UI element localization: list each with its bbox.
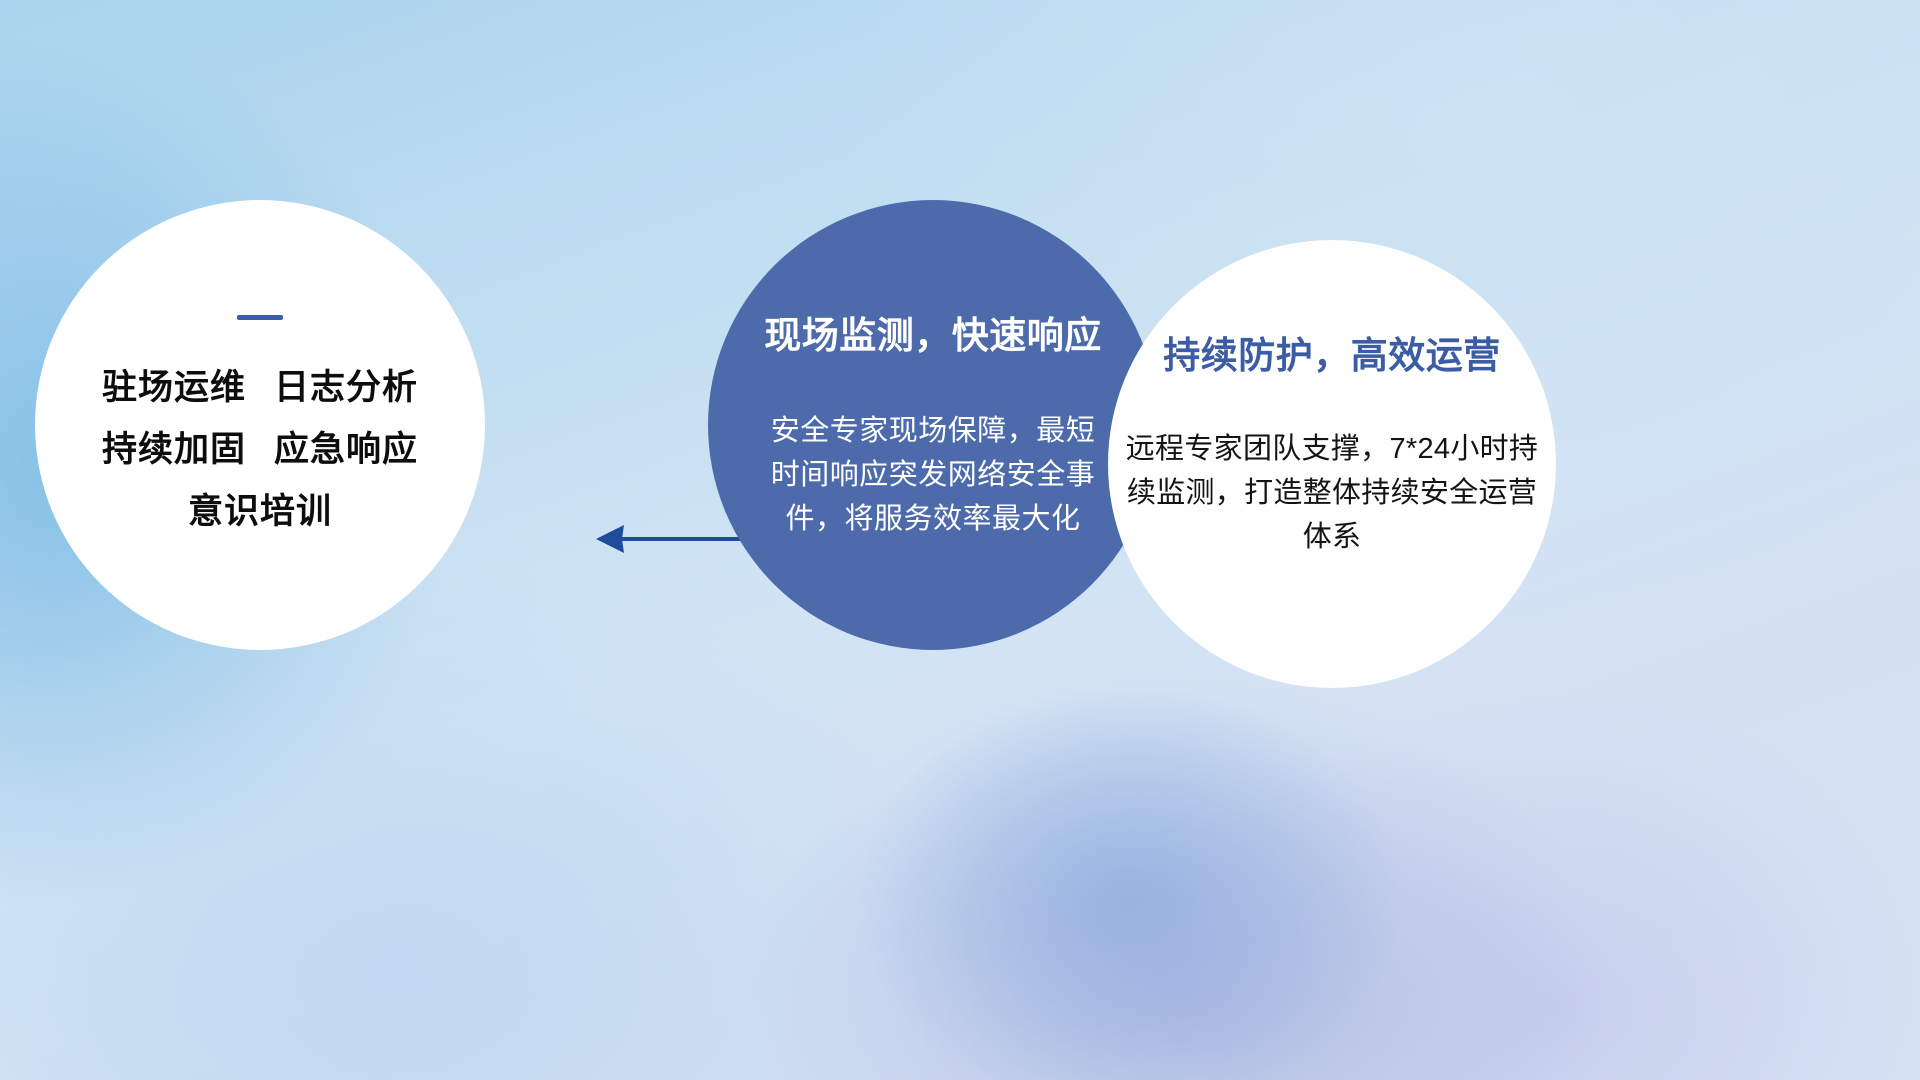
onsite-monitoring-title: 现场监测，快速响应 [764, 305, 1102, 359]
circle-capabilities-content: 驻场运维日志分析 持续加固应急响应 意识培训 [35, 200, 485, 650]
circle-onsite-monitoring-content: 现场监测，快速响应 安全专家现场保障，最短时间响应突发网络安全事件，将服务效率最… [708, 200, 1158, 650]
onsite-monitoring-body: 安全专家现场保障，最短时间响应突发网络安全事件，将服务效率最大化 [768, 409, 1098, 541]
circle-onsite-monitoring: 现场监测，快速响应 安全专家现场保障，最短时间响应突发网络安全事件，将服务效率最… [708, 200, 1158, 650]
continuous-protection-body: 远程专家团队支撑，7*24小时持续监测，打造整体持续安全运营体系 [1122, 427, 1542, 559]
capability-row-2: 持续加固应急响应 [102, 432, 418, 469]
divider-dash [237, 315, 283, 320]
capability-log-analysis: 日志分析 [274, 368, 418, 407]
circle-continuous-protection: 持续防护，高效运营 远程专家团队支撑，7*24小时持续监测，打造整体持续安全运营… [1108, 240, 1556, 688]
continuous-protection-title: 持续防护，高效运营 [1163, 325, 1501, 379]
capability-emergency-response: 应急响应 [274, 430, 418, 469]
diagram-canvas: 驻场运维日志分析 持续加固应急响应 意识培训 现场监测，快速响应 安全专家现场保… [0, 0, 1920, 1080]
capability-row-3: 意识培训 [188, 494, 332, 531]
capability-onsite-ops: 驻场运维 [102, 368, 246, 407]
capability-row-1: 驻场运维日志分析 [102, 370, 418, 407]
circle-capabilities: 驻场运维日志分析 持续加固应急响应 意识培训 [35, 200, 485, 650]
capability-awareness-training: 意识培训 [188, 492, 332, 531]
capability-continuous-hardening: 持续加固 [102, 430, 246, 469]
circle-continuous-protection-content: 持续防护，高效运营 远程专家团队支撑，7*24小时持续监测，打造整体持续安全运营… [1108, 240, 1556, 688]
